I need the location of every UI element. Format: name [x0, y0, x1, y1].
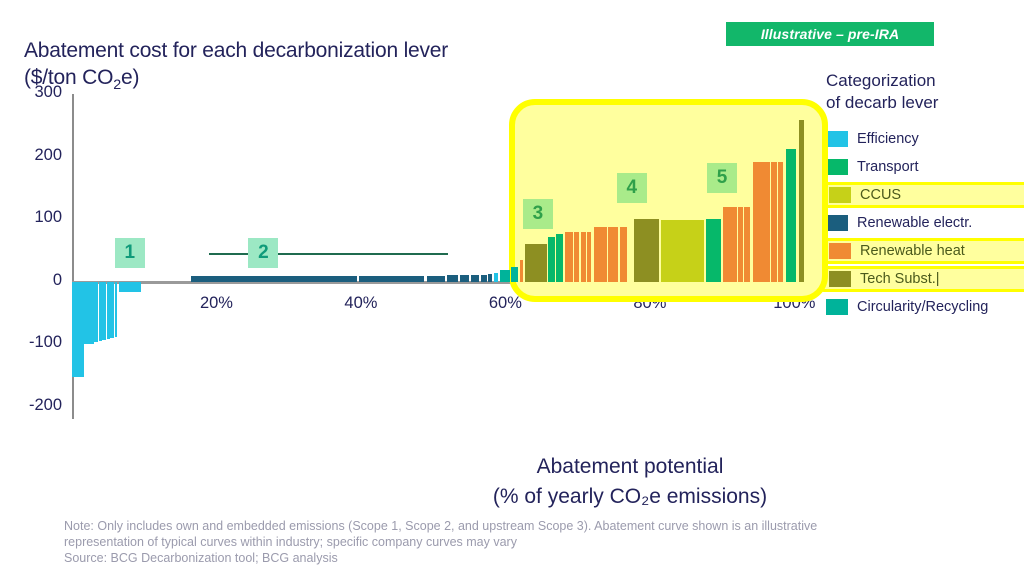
- callout-marker-3[interactable]: 3: [523, 199, 553, 229]
- legend-item-label: CCUS: [860, 187, 901, 203]
- legend-item-label: Tech Subst.|: [860, 271, 940, 287]
- legend-item-renewable-heat[interactable]: Renewable heat: [818, 238, 1024, 264]
- bar: [481, 275, 487, 282]
- bar: [753, 162, 770, 282]
- bar: [94, 282, 98, 342]
- bar: [471, 275, 478, 282]
- legend-item-label: Transport: [857, 159, 919, 175]
- bar: [565, 232, 573, 282]
- bar: [723, 207, 737, 282]
- y-axis-tick-label: 100: [0, 208, 62, 227]
- bar: [574, 232, 579, 282]
- y-axis-tick-label: 300: [0, 83, 62, 102]
- legend-item-label: Renewable electr.: [857, 215, 972, 231]
- chart-page: Abatement cost for each decarbonization …: [0, 0, 1024, 583]
- legend-swatch-icon: [826, 299, 848, 315]
- y-axis-tick-label: 0: [0, 271, 62, 290]
- legend-title: Categorization of decarb lever: [826, 70, 1024, 114]
- bar: [520, 260, 523, 281]
- legend-item-ccus[interactable]: CCUS: [818, 182, 1024, 208]
- illustrative-badge: Illustrative – pre-IRA: [726, 22, 934, 46]
- bar: [587, 232, 591, 282]
- bar: [72, 282, 84, 377]
- bar: [620, 227, 627, 282]
- bar: [634, 219, 659, 282]
- x-axis-title: Abatement potential (% of yearly CO₂e em…: [430, 452, 830, 512]
- legend-item-label: Efficiency: [857, 131, 919, 147]
- x-axis-tick-label: 20%: [200, 294, 233, 313]
- y-axis-tick-label: -100: [0, 333, 62, 352]
- bar: [661, 220, 704, 282]
- callout-marker-2[interactable]: 2: [248, 238, 278, 268]
- legend-swatch-icon: [829, 271, 851, 287]
- lever-span-line: [209, 253, 447, 255]
- bar: [778, 162, 783, 282]
- callout-marker-4[interactable]: 4: [617, 173, 647, 203]
- legend-swatch-icon: [826, 131, 848, 147]
- y-axis-tick-label: -200: [0, 396, 62, 415]
- legend-item-efficiency[interactable]: Efficiency: [826, 126, 1024, 152]
- bar: [706, 219, 720, 282]
- bar: [460, 275, 469, 281]
- bar: [427, 276, 445, 282]
- y-axis-tick-label: 200: [0, 146, 62, 165]
- legend: Categorization of decarb lever Efficienc…: [826, 70, 1024, 322]
- bar: [494, 273, 498, 281]
- legend-item-label: Circularity/Recycling: [857, 299, 988, 315]
- bar: [525, 244, 547, 282]
- title-line-1: Abatement cost for each decarbonization …: [24, 39, 448, 62]
- legend-item-renewable-electr[interactable]: Renewable electr.: [826, 210, 1024, 236]
- bar: [556, 234, 563, 282]
- bar: [738, 207, 743, 282]
- legend-swatch-icon: [826, 215, 848, 231]
- bar: [594, 227, 606, 282]
- bar: [191, 276, 357, 282]
- legend-item-circularity-recycling[interactable]: Circularity/Recycling: [826, 294, 1024, 320]
- bar: [359, 276, 424, 282]
- bar: [110, 282, 114, 338]
- callout-marker-1[interactable]: 1: [115, 238, 145, 268]
- bar: [84, 282, 94, 345]
- bar: [511, 267, 518, 281]
- bar: [581, 232, 586, 282]
- bar: [119, 282, 141, 292]
- bar: [102, 282, 106, 341]
- legend-item-transport[interactable]: Transport: [826, 154, 1024, 180]
- x-axis-tick-label: 60%: [489, 294, 522, 313]
- bar: [548, 237, 555, 282]
- plot-area: 3002001000-100-200 20%40%60%80%100% 1234…: [0, 84, 826, 424]
- bar: [744, 207, 749, 282]
- legend-swatch-icon: [829, 243, 851, 259]
- legend-swatch-icon: [829, 187, 851, 203]
- footnote: Note: Only includes own and embedded emi…: [64, 518, 1010, 566]
- bar: [107, 282, 110, 340]
- bar: [608, 227, 618, 282]
- bar: [447, 275, 458, 281]
- bar: [771, 162, 777, 282]
- bar-series: [72, 84, 816, 419]
- callout-marker-5[interactable]: 5: [707, 163, 737, 193]
- x-axis-tick-label: 40%: [344, 294, 377, 313]
- legend-swatch-icon: [826, 159, 848, 175]
- bar: [786, 149, 796, 282]
- bar: [500, 270, 510, 282]
- bar: [99, 282, 102, 341]
- bar: [115, 282, 118, 337]
- legend-item-label: Renewable heat: [860, 243, 965, 259]
- bar: [799, 120, 805, 281]
- bar: [488, 274, 492, 282]
- legend-item-tech-subst[interactable]: Tech Subst.|: [818, 266, 1024, 292]
